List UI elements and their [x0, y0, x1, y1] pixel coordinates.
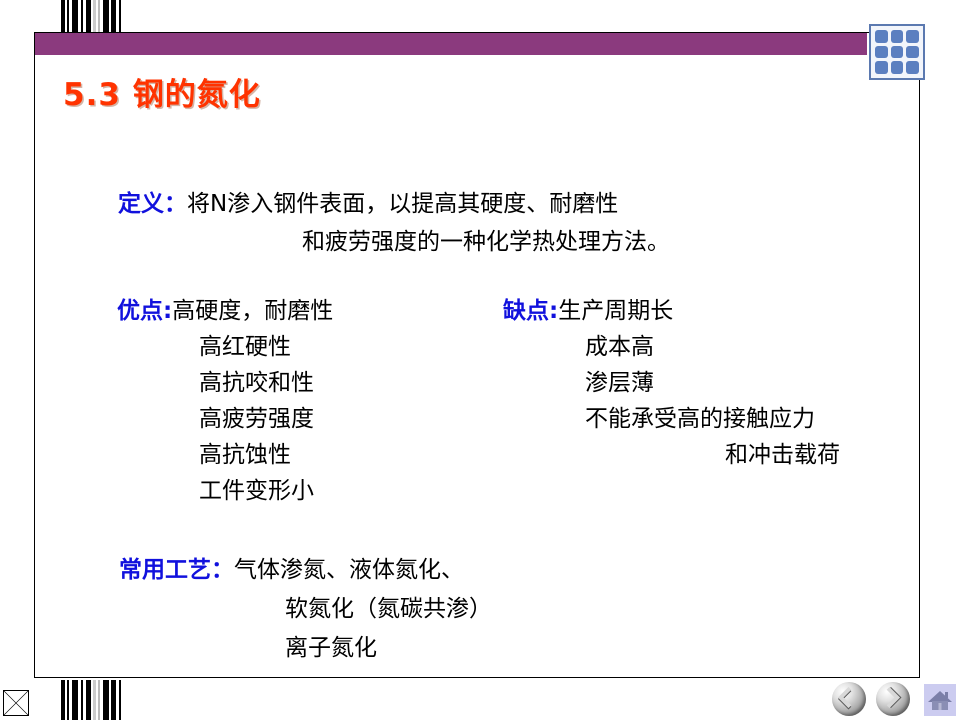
definition-label: 定义：: [118, 191, 187, 217]
process-first-line: 常用工艺：气体渗氮、液体氮化、: [119, 551, 492, 590]
grid-cell: [891, 30, 904, 43]
grid-cell: [906, 30, 919, 43]
cons-block: 缺点:生产周期长 成本高 渗层薄 不能承受高的接触应力 和冲击载荷: [503, 293, 840, 473]
process-item: 离子氮化: [119, 629, 492, 668]
grid-cell: [891, 46, 904, 59]
process-label: 常用工艺：: [119, 557, 234, 583]
cons-first-text: 生产周期长: [558, 298, 673, 324]
pros-item: 高抗咬和性: [117, 365, 333, 401]
pros-label: 优点:: [117, 298, 172, 324]
cons-first-line: 缺点:生产周期长: [503, 293, 840, 329]
definition-text-1: 将N渗入钢件表面，以提高其硬度、耐磨性: [187, 191, 618, 217]
process-block: 常用工艺：气体渗氮、液体氮化、 软氮化（氮碳共渗） 离子氮化: [119, 551, 492, 668]
chevron-left-icon[interactable]: [832, 682, 866, 716]
grid-cell: [875, 30, 888, 43]
cons-item: 成本高: [503, 329, 840, 365]
pros-first-text: 高硬度，耐磨性: [172, 298, 333, 324]
grid-cell: [891, 61, 904, 74]
page-title: 5.3 钢的氮化: [63, 69, 261, 114]
pros-block: 优点:高硬度，耐磨性 高红硬性 高抗咬和性 高疲劳强度 高抗蚀性 工件变形小: [117, 293, 333, 509]
cons-continuation: 和冲击载荷: [503, 437, 840, 473]
pros-item: 工件变形小: [117, 473, 333, 509]
title-bar: [35, 33, 867, 55]
grid-cell: [875, 61, 888, 74]
cons-label: 缺点:: [503, 298, 558, 324]
definition-line-2: 和疲劳强度的一种化学热处理方法。: [118, 223, 670, 261]
grid-cell: [875, 46, 888, 59]
process-item: 软氮化（氮碳共渗）: [119, 590, 492, 629]
grid-cell: [906, 46, 919, 59]
pros-item: 高抗蚀性: [117, 437, 333, 473]
definition-line-1: 定义：将N渗入钢件表面，以提高其硬度、耐磨性: [118, 185, 670, 223]
cons-item: 渗层薄: [503, 365, 840, 401]
process-first-text: 气体渗氮、液体氮化、: [234, 557, 464, 583]
pros-item: 高疲劳强度: [117, 401, 333, 437]
barcode-stripes-top: [60, 0, 124, 34]
barcode-stripes-bottom: [60, 680, 124, 720]
home-icon[interactable]: [924, 684, 956, 716]
broken-image-icon: [3, 690, 29, 716]
pros-first-line: 优点:高硬度，耐磨性: [117, 293, 333, 329]
definition-block: 定义：将N渗入钢件表面，以提高其硬度、耐磨性 和疲劳强度的一种化学热处理方法。: [118, 185, 670, 261]
chevron-right-icon[interactable]: [876, 682, 910, 716]
grid-icon[interactable]: [869, 24, 925, 80]
pros-item: 高红硬性: [117, 329, 333, 365]
cons-item: 不能承受高的接触应力: [503, 401, 840, 437]
slide-frame: 5.3 钢的氮化 定义：将N渗入钢件表面，以提高其硬度、耐磨性 和疲劳强度的一种…: [34, 32, 920, 678]
grid-cell: [906, 61, 919, 74]
